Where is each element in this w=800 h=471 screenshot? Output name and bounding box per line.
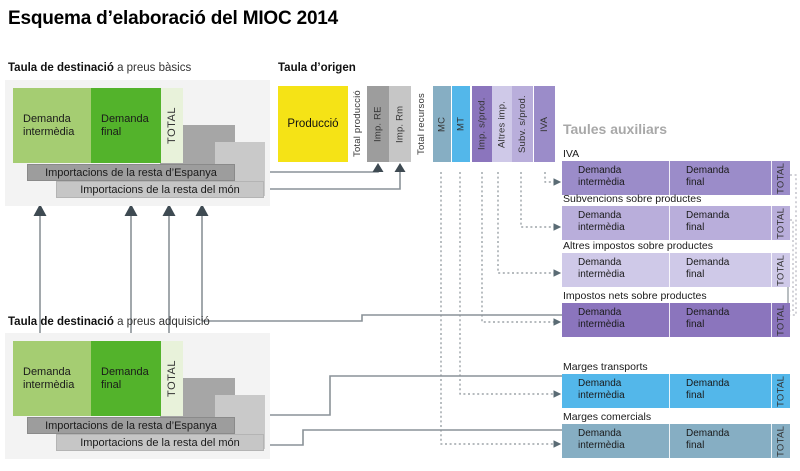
destination-basic-imports-world-label: Importacions de la resta del món bbox=[57, 184, 263, 196]
destination-basic-heading-thin: a preus bàsics bbox=[114, 62, 191, 74]
origin-col-mc: MC bbox=[433, 86, 451, 162]
aux-label-altres-impostos: Altres impostos sobre productes bbox=[563, 240, 713, 252]
origin-col-imp-re: Imp. RE bbox=[367, 86, 389, 162]
aux-subv-total-label: TOTAL bbox=[772, 206, 790, 240]
destination-acq-final-cell: Demandafinal bbox=[91, 341, 161, 416]
aux-subv-intermediate: Demandaintermèdia bbox=[562, 206, 669, 240]
aux-subv-final: Demandafinal bbox=[669, 206, 771, 240]
aux-label-marges-transports: Marges transports bbox=[563, 361, 648, 373]
aux-table-iva: Demandaintermèdia Demandafinal TOTAL bbox=[562, 161, 790, 195]
aux-mt-intermediate-label: Demandaintermèdia bbox=[562, 374, 669, 402]
aux-subv-intermediate-label: Demandaintermèdia bbox=[562, 206, 669, 234]
aux-iva-intermediate: Demandaintermèdia bbox=[562, 161, 669, 195]
destination-acq-imports-spain-label: Importacions de la resta d’Espanya bbox=[28, 420, 234, 432]
aux-table-altres-impostos: Demandaintermèdia Demandafinal TOTAL bbox=[562, 253, 790, 287]
origin-col-altres-imp-label: Altres imp. bbox=[492, 86, 512, 162]
aux-altres-total-label: TOTAL bbox=[772, 253, 790, 287]
destination-basic-imports-spain: Importacions de la resta d’Espanya bbox=[27, 164, 235, 181]
aux-mt-intermediate: Demandaintermèdia bbox=[562, 374, 669, 408]
origin-col-produccio: Producció bbox=[278, 86, 348, 162]
aux-subv-final-label: Demandafinal bbox=[670, 206, 771, 234]
aux-table-marges-comercials: Demandaintermèdia Demandafinal TOTAL bbox=[562, 424, 790, 458]
destination-basic-imports-spain-label: Importacions de la resta d’Espanya bbox=[28, 167, 234, 179]
destination-basic-heading: Taula de destinació a preus bàsics bbox=[8, 62, 191, 74]
destination-basic-imports-world: Importacions de la resta del món bbox=[56, 181, 264, 198]
aux-tables-heading: Taules auxiliars bbox=[563, 121, 667, 137]
aux-mt-total: TOTAL bbox=[771, 374, 790, 408]
aux-mt-final: Demandafinal bbox=[669, 374, 771, 408]
destination-acq-total-cell: TOTAL bbox=[161, 341, 183, 416]
destination-basic-intermediate-cell: Demandaintermèdia bbox=[13, 88, 91, 163]
aux-mc-total: TOTAL bbox=[771, 424, 790, 458]
origin-col-produccio-label: Producció bbox=[278, 118, 348, 130]
aux-label-iva: IVA bbox=[563, 148, 579, 160]
aux-altres-intermediate: Demandaintermèdia bbox=[562, 253, 669, 287]
aux-mc-intermediate-label: Demandaintermèdia bbox=[562, 424, 669, 452]
aux-nets-intermediate: Demandaintermèdia bbox=[562, 303, 669, 337]
destination-acq-total-label: TOTAL bbox=[161, 360, 183, 397]
aux-mt-total-label: TOTAL bbox=[772, 374, 790, 408]
destination-acq-imports-world: Importacions de la resta del món bbox=[56, 434, 264, 451]
aux-altres-final: Demandafinal bbox=[669, 253, 771, 287]
aux-nets-total: TOTAL bbox=[771, 303, 790, 337]
origin-col-mc-label: MC bbox=[433, 86, 451, 162]
origin-col-subv-sprod: Subv. s/prod. bbox=[512, 86, 533, 162]
aux-mt-final-label: Demandafinal bbox=[670, 374, 771, 402]
origin-col-total-recursos-label: Total recursos bbox=[411, 86, 432, 162]
aux-label-subvencions: Subvencions sobre productes bbox=[563, 193, 701, 205]
origin-heading: Taula d’origen bbox=[278, 62, 356, 74]
origin-col-imp-sprod: Imp. s/prod. bbox=[472, 86, 492, 162]
destination-acq-intermediate-label: Demandaintermèdia bbox=[13, 366, 74, 392]
aux-label-impostos-nets: Impostos nets sobre productes bbox=[563, 290, 707, 302]
aux-altres-total: TOTAL bbox=[771, 253, 790, 287]
origin-col-altres-imp: Altres imp. bbox=[492, 86, 512, 162]
destination-acquisition-heading: Taula de destinació a preus adquisició bbox=[8, 316, 210, 328]
aux-mc-intermediate: Demandaintermèdia bbox=[562, 424, 669, 458]
origin-heading-label: Taula d’origen bbox=[278, 62, 356, 74]
aux-altres-intermediate-label: Demandaintermèdia bbox=[562, 253, 669, 281]
aux-iva-final: Demandafinal bbox=[669, 161, 771, 195]
aux-table-marges-transports: Demandaintermèdia Demandafinal TOTAL bbox=[562, 374, 790, 408]
destination-acq-intermediate-cell: Demandaintermèdia bbox=[13, 341, 91, 416]
origin-col-subv-sprod-label: Subv. s/prod. bbox=[512, 86, 533, 162]
aux-iva-total-label: TOTAL bbox=[772, 161, 790, 195]
aux-label-marges-comercials: Marges comercials bbox=[563, 411, 651, 423]
destination-acq-imports-spain: Importacions de la resta d’Espanya bbox=[27, 417, 235, 434]
aux-nets-total-label: TOTAL bbox=[772, 303, 790, 337]
aux-mc-final-label: Demandafinal bbox=[670, 424, 771, 452]
aux-table-impostos-nets: Demandaintermèdia Demandafinal TOTAL bbox=[562, 303, 790, 337]
destination-acq-heading-bold: Taula de destinació bbox=[8, 316, 114, 328]
origin-col-mt-label: MT bbox=[452, 86, 470, 162]
destination-basic-total-cell: TOTAL bbox=[161, 88, 183, 163]
destination-acq-imports-world-label: Importacions de la resta del món bbox=[57, 437, 263, 449]
origin-col-imp-rm-label: Imp. Rm bbox=[389, 86, 411, 162]
aux-iva-final-label: Demandafinal bbox=[670, 161, 771, 189]
destination-basic-total-label: TOTAL bbox=[161, 107, 183, 144]
origin-col-total-produccio: Total producció bbox=[348, 86, 367, 162]
aux-subv-total: TOTAL bbox=[771, 206, 790, 240]
origin-col-iva: IVA bbox=[534, 86, 555, 162]
destination-basic-intermediate-label: Demandaintermèdia bbox=[13, 113, 74, 139]
aux-nets-intermediate-label: Demandaintermèdia bbox=[562, 303, 669, 331]
origin-col-iva-label: IVA bbox=[534, 86, 555, 162]
destination-basic-heading-bold: Taula de destinació bbox=[8, 62, 114, 74]
aux-nets-final: Demandafinal bbox=[669, 303, 771, 337]
aux-iva-intermediate-label: Demandaintermèdia bbox=[562, 161, 669, 189]
aux-table-subvencions: Demandaintermèdia Demandafinal TOTAL bbox=[562, 206, 790, 240]
page-title: Esquema d’elaboració del MIOC 2014 bbox=[8, 8, 338, 30]
destination-basic-final-cell: Demandafinal bbox=[91, 88, 161, 163]
origin-col-imp-re-label: Imp. RE bbox=[367, 86, 389, 162]
origin-col-imp-sprod-label: Imp. s/prod. bbox=[472, 86, 492, 162]
aux-mc-total-label: TOTAL bbox=[772, 424, 790, 458]
aux-altres-final-label: Demandafinal bbox=[670, 253, 771, 281]
destination-acq-heading-thin: a preus adquisició bbox=[114, 316, 210, 328]
aux-nets-final-label: Demandafinal bbox=[670, 303, 771, 331]
origin-col-mt: MT bbox=[452, 86, 470, 162]
destination-acq-final-label: Demandafinal bbox=[91, 366, 149, 392]
origin-col-total-produccio-label: Total producció bbox=[348, 86, 367, 162]
origin-col-imp-rm: Imp. Rm bbox=[389, 86, 411, 162]
aux-mc-final: Demandafinal bbox=[669, 424, 771, 458]
origin-col-total-recursos: Total recursos bbox=[411, 86, 432, 162]
destination-basic-final-label: Demandafinal bbox=[91, 113, 149, 139]
aux-iva-total: TOTAL bbox=[771, 161, 790, 195]
